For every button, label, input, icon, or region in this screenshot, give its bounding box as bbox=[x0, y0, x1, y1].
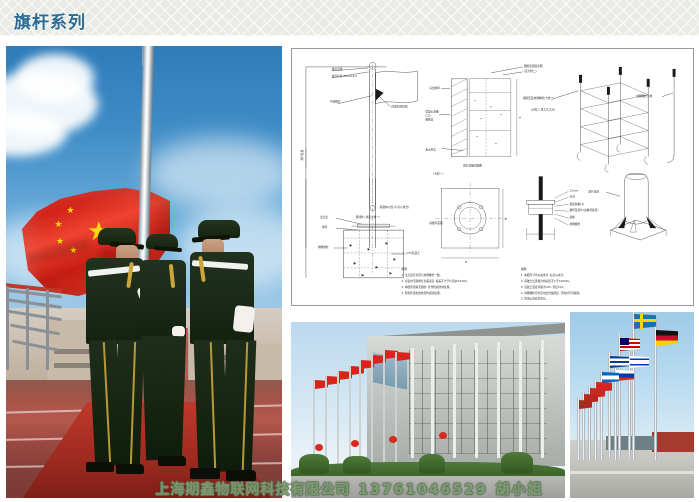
flagpole bbox=[371, 355, 373, 469]
svg-text:法兰盘: 法兰盘 bbox=[320, 215, 328, 219]
svg-text:说明:: 说明: bbox=[521, 267, 527, 271]
svg-text:(大样二 见工艺节点): (大样二 见工艺节点) bbox=[531, 108, 555, 112]
svg-text:加劲肋板(4): 加劲肋板(4) bbox=[570, 202, 584, 206]
svg-text:1. 本图尺寸均以毫米计, 标高以米计。: 1. 本图尺寸均以毫米计, 标高以米计。 bbox=[521, 273, 566, 277]
ground-pavement bbox=[570, 464, 694, 498]
technical-drawing-panel: 旗杆顶球 旗杆杆身 Ø219×4.0 不锈钢杆 内置升降机构 旗杆高度 bbox=[291, 48, 694, 306]
svg-text:钢筋笼配筋详图: 钢筋笼配筋详图 bbox=[524, 64, 543, 68]
frame-bar bbox=[8, 310, 62, 321]
flagpole bbox=[359, 360, 361, 470]
svg-text:C25: C25 bbox=[425, 114, 431, 118]
page-root: 旗杆系列 ★ ★ ★ ★ ★ bbox=[0, 0, 699, 502]
view-plan: B B (大样一) 基础平面图 bbox=[429, 171, 507, 264]
svg-text:(见大样二): (见大样二) bbox=[524, 69, 537, 73]
soldier-trousers bbox=[160, 336, 186, 461]
svg-text:旗杆基础剖面图: 旗杆基础剖面图 bbox=[463, 163, 482, 167]
svg-text:内置升降机构: 内置升降机构 bbox=[391, 105, 407, 109]
header-band: 旗杆系列 bbox=[0, 0, 699, 37]
flagpole bbox=[395, 352, 397, 470]
svg-text:杆身: 杆身 bbox=[570, 194, 576, 198]
red-lantern bbox=[315, 444, 323, 451]
soldier-shoe bbox=[158, 456, 186, 466]
svg-text:地坪: 地坪 bbox=[322, 225, 328, 229]
svg-text:混凝土基础: 混凝土基础 bbox=[425, 110, 439, 114]
flag-nicaragua bbox=[602, 372, 619, 383]
flag-cuba bbox=[610, 356, 629, 368]
cloud bbox=[16, 54, 94, 102]
svg-text:旗杆高度: 旗杆高度 bbox=[300, 149, 304, 160]
flag-sweden-cross bbox=[640, 314, 643, 329]
frame-bar bbox=[12, 340, 58, 352]
svg-text:3. 焊缝须饱满无裂纹, 并作防腐防锈处理。: 3. 焊缝须饱满无裂纹, 并作防腐防锈处理。 bbox=[401, 285, 452, 289]
flag-israel bbox=[630, 356, 649, 368]
photo-international-flags bbox=[570, 312, 694, 498]
flagpole bbox=[383, 350, 385, 468]
svg-text:2. 安装时须调整杆身垂直度, 偏差不大于杆高的1/1000: 2. 安装时须调整杆身垂直度, 偏差不大于杆高的1/1000。 bbox=[401, 279, 469, 283]
frame-bar bbox=[10, 324, 60, 336]
soldier-shoe bbox=[226, 470, 256, 481]
flag-generic bbox=[579, 400, 592, 409]
svg-text:H: H bbox=[519, 116, 521, 120]
svg-text:5. 回填土须分层夯实。: 5. 回填土须分层夯实。 bbox=[521, 297, 548, 301]
flagpole bbox=[349, 366, 351, 470]
svg-text:地脚螺栓: 地脚螺栓 bbox=[570, 222, 581, 226]
svg-text:底板: 底板 bbox=[570, 215, 576, 219]
svg-text:地脚螺栓大样: 地脚螺栓大样 bbox=[636, 94, 652, 98]
svg-text:12mm: 12mm bbox=[570, 188, 579, 192]
svg-text:B: B bbox=[505, 217, 507, 221]
svg-text:2. 基础土层承载力特征值不小于100kPa。: 2. 基础土层承载力特征值不小于100kPa。 bbox=[521, 279, 572, 283]
svg-text:旗杆顶球: 旗杆顶球 bbox=[332, 67, 343, 71]
svg-text:4. 所有外露金属件须作镀锌处理。: 4. 所有外露金属件须作镀锌处理。 bbox=[401, 291, 442, 295]
soldier-shoe bbox=[190, 468, 220, 479]
flag-malaysia-canton bbox=[620, 338, 629, 345]
svg-text:基础中心线 (与杆心重合): 基础中心线 (与杆心重合) bbox=[380, 205, 410, 209]
svg-text:钢筋笼: 钢筋笼 bbox=[425, 118, 433, 122]
flag-sweden-cross bbox=[634, 319, 656, 322]
red-lantern bbox=[351, 440, 359, 447]
svg-text:C25混凝土: C25混凝土 bbox=[406, 251, 420, 255]
drawing-notes-right: 说明: 1. 法兰盘孔位须与地脚螺栓一致。 2. 安装时须调整杆身垂直度, 偏差… bbox=[401, 267, 469, 295]
view-anchor: 地脚螺栓大样 bbox=[636, 69, 675, 163]
view-rebar-cage: 钢筋笼及地脚螺栓(大样二) (大样二 见工艺节点) bbox=[523, 67, 650, 172]
svg-text:(大样一): (大样一) bbox=[433, 171, 443, 175]
shrub bbox=[299, 454, 329, 474]
flag-star-small: ★ bbox=[55, 220, 63, 229]
frame-bar bbox=[6, 298, 62, 309]
building-fin bbox=[411, 348, 414, 458]
building-fin bbox=[475, 343, 478, 458]
flagpole bbox=[618, 334, 621, 458]
office-building-wing bbox=[547, 344, 565, 466]
flag-star-small: ★ bbox=[66, 206, 74, 215]
road bbox=[291, 476, 565, 498]
metal-frame-structure bbox=[6, 286, 68, 370]
flagpole bbox=[337, 371, 339, 471]
soldier-glove bbox=[233, 305, 256, 333]
svg-text:说明:: 说明: bbox=[401, 267, 407, 271]
soldier-shoe bbox=[86, 462, 114, 472]
svg-text:旗杆杆身 Ø219×4.0: 旗杆杆身 Ø219×4.0 bbox=[332, 73, 358, 78]
frame-bar bbox=[26, 288, 29, 370]
svg-text:预埋件 (详见大样一): 预埋件 (详见大样一) bbox=[356, 215, 380, 219]
drawing-notes-left: 说明: 1. 本图尺寸均以毫米计, 标高以米计。 2. 基础土层承载力特征值不小… bbox=[521, 267, 582, 301]
frame-bar bbox=[46, 290, 49, 370]
svg-text:素土夯实: 素土夯实 bbox=[425, 147, 436, 151]
background-wall bbox=[652, 432, 694, 452]
svg-text:1. 法兰盘孔位须与地脚螺栓一致。: 1. 法兰盘孔位须与地脚螺栓一致。 bbox=[401, 273, 442, 277]
view-baseplate: 12mm 杆身 加劲肋板(4) 螺母及垫片(双螺母锁紧) 底板 地脚螺栓 bbox=[527, 176, 599, 240]
kerb-line bbox=[570, 471, 694, 474]
photo-office-plaza-flags bbox=[291, 322, 565, 498]
svg-text:钢筋笼及地脚螺栓(大样二): 钢筋笼及地脚螺栓(大样二) bbox=[523, 96, 554, 100]
red-lantern bbox=[439, 432, 447, 439]
svg-text:螺母及垫片(双螺母锁紧): 螺母及垫片(双螺母锁紧) bbox=[570, 208, 599, 212]
building-fin bbox=[453, 344, 456, 458]
svg-text:3. 混凝土强度等级为C25, 垫层C15。: 3. 混凝土强度等级为C25, 垫层C15。 bbox=[521, 285, 566, 289]
svg-text:不锈钢杆: 不锈钢杆 bbox=[330, 100, 341, 104]
svg-text:基础平面图: 基础平面图 bbox=[429, 221, 443, 225]
page-title: 旗杆系列 bbox=[14, 8, 86, 33]
svg-text:地脚螺栓: 地脚螺栓 bbox=[318, 245, 329, 249]
flagpole bbox=[632, 312, 635, 460]
building-fin bbox=[541, 340, 544, 458]
building-fin bbox=[519, 341, 522, 458]
svg-text:自然地坪: 自然地坪 bbox=[429, 86, 440, 90]
flagpole bbox=[614, 368, 617, 460]
shrub bbox=[419, 454, 445, 474]
building-fin bbox=[497, 342, 500, 458]
frame-bar bbox=[6, 286, 9, 370]
soldier-trousers bbox=[222, 340, 257, 473]
honor-guard-soldier bbox=[184, 220, 264, 488]
view-foundation: 基础中心线 (与杆心重合) bbox=[306, 178, 420, 278]
view-3d: 旗杆底座 bbox=[589, 173, 667, 240]
shrub bbox=[501, 452, 533, 474]
svg-text:旗杆底座: 旗杆底座 bbox=[589, 189, 600, 193]
photo-flag-ceremony: ★ ★ ★ ★ ★ bbox=[6, 46, 282, 498]
shrub bbox=[343, 456, 371, 474]
building-fin bbox=[431, 346, 434, 458]
flag-germany bbox=[656, 330, 678, 346]
flagpole-foundation-cad-drawing: 旗杆顶球 旗杆杆身 Ø219×4.0 不锈钢杆 内置升降机构 旗杆高度 bbox=[292, 49, 693, 306]
svg-text:B: B bbox=[465, 260, 467, 264]
red-lantern bbox=[389, 436, 397, 443]
svg-text:4. 地脚螺栓定位须用定位板固定, 浇筑时不得偏移。: 4. 地脚螺栓定位须用定位板固定, 浇筑时不得偏移。 bbox=[521, 291, 582, 295]
view-section: 钢筋笼配筋详图 (见大样二) 自然地坪 混凝土基础 C25 钢筋笼 素土夯实 旗… bbox=[425, 64, 543, 168]
